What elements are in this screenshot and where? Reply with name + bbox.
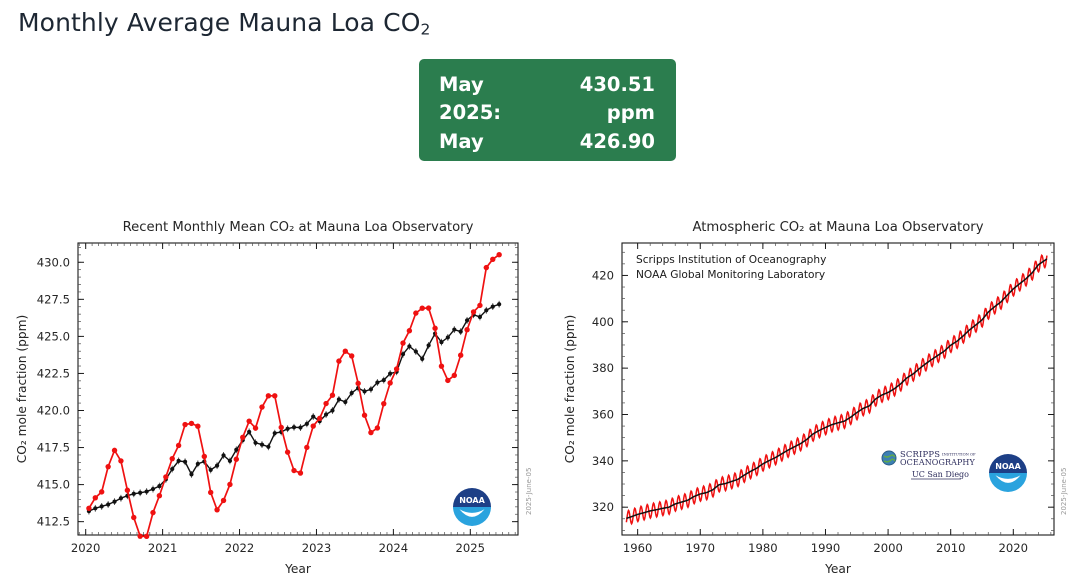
y-tick-label: 427.5 — [37, 292, 70, 306]
x-tick-label: 2024 — [379, 541, 409, 555]
summary-value-previous: 426.90 ppm — [543, 128, 655, 185]
x-tick-label: 1970 — [686, 541, 716, 555]
date-stamp: 2025-June-05 — [525, 468, 533, 515]
scripps-logo: SCRIPPSINSTITUTION OFOCEANOGRAPHYUC San … — [882, 449, 976, 479]
y-tick-label: 415.0 — [37, 478, 70, 492]
y-tick-label: 360 — [592, 407, 614, 421]
svg-text:UC San Diego: UC San Diego — [912, 470, 969, 479]
noaa-logo: NOAA — [453, 488, 491, 526]
y-tick-label: 422.5 — [37, 366, 70, 380]
plot-frame — [622, 243, 1054, 535]
y-tick-label: 417.5 — [37, 441, 70, 455]
recent-co2-chart-svg: Recent Monthly Mean CO₂ at Mauna Loa Obs… — [10, 215, 538, 575]
y-tick-label: 430.0 — [37, 255, 70, 269]
summary-row: May 2024: 426.90 ppm — [439, 128, 656, 185]
date-stamp: 2025-June-05 — [1060, 468, 1068, 515]
plot-frame — [78, 243, 518, 535]
svg-text:OCEANOGRAPHY: OCEANOGRAPHY — [900, 458, 976, 467]
last-updated-text: Last updated: Jun 05, 2025 — [439, 187, 656, 199]
page-title: Monthly Average Mauna Loa CO2 — [18, 8, 430, 38]
chart-title: Atmospheric CO₂ at Mauna Loa Observatory — [692, 220, 983, 235]
monthly-mean-series — [626, 255, 1047, 523]
page-title-text: Monthly Average Mauna Loa CO — [18, 8, 420, 37]
co2-summary-box: May 2025: 430.51 ppm May 2024: 426.90 pp… — [419, 59, 676, 161]
x-tick-label: 2020 — [999, 541, 1029, 555]
noaa-logo: NOAA — [989, 454, 1027, 492]
monthly-mean-series — [86, 252, 502, 539]
chart-title: Recent Monthly Mean CO₂ at Mauna Loa Obs… — [123, 220, 474, 235]
svg-text:CO₂ mole fraction (ppm): CO₂ mole fraction (ppm) — [15, 315, 29, 464]
annual-trend-series — [626, 259, 1047, 518]
page-title-subscript: 2 — [420, 20, 430, 38]
annotation-line: Scripps Institution of Oceanography — [636, 254, 826, 266]
x-tick-label: 2021 — [148, 541, 178, 555]
full-record-co2-chart: Atmospheric CO₂ at Mauna Loa Observatory… — [560, 215, 1072, 575]
summary-value-current: 430.51 ppm — [543, 71, 655, 128]
y-tick-label: 412.5 — [37, 515, 70, 529]
recent-co2-chart: Recent Monthly Mean CO₂ at Mauna Loa Obs… — [10, 215, 538, 575]
svg-text:NOAA: NOAA — [459, 496, 485, 505]
svg-text:NOAA: NOAA — [995, 462, 1021, 471]
x-tick-label: 2020 — [71, 541, 101, 555]
y-axis-label: CO₂ mole fraction (ppm) — [563, 315, 577, 464]
x-tick-label: 2025 — [456, 541, 486, 555]
y-tick-label: 420 — [592, 268, 614, 282]
x-tick-label: 2022 — [225, 541, 255, 555]
y-tick-label: 420.0 — [37, 403, 70, 417]
x-tick-label: 2010 — [936, 541, 966, 555]
x-tick-label: 1960 — [623, 541, 653, 555]
x-tick-label: 1980 — [748, 541, 778, 555]
y-tick-label: 425.0 — [37, 329, 70, 343]
trend-series — [87, 301, 501, 515]
summary-label-previous: May 2024: — [439, 128, 543, 185]
svg-text:2025-June-05: 2025-June-05 — [525, 468, 533, 515]
annotation-line: NOAA Global Monitoring Laboratory — [636, 269, 825, 281]
svg-text:2025-June-05: 2025-June-05 — [1060, 468, 1068, 515]
svg-text:INSTITUTION OF: INSTITUTION OF — [942, 453, 976, 457]
full-record-co2-chart-svg: Atmospheric CO₂ at Mauna Loa Observatory… — [560, 215, 1072, 575]
y-tick-label: 340 — [592, 454, 614, 468]
x-axis-label: Year — [284, 562, 312, 575]
x-tick-label: 2000 — [873, 541, 903, 555]
x-tick-label: 2023 — [302, 541, 332, 555]
y-tick-label: 380 — [592, 361, 614, 375]
svg-text:CO₂ mole fraction (ppm): CO₂ mole fraction (ppm) — [563, 315, 577, 464]
y-tick-label: 400 — [592, 315, 614, 329]
summary-row: May 2025: 430.51 ppm — [439, 71, 656, 128]
x-tick-label: 1990 — [811, 541, 841, 555]
y-axis-label: CO₂ mole fraction (ppm) — [15, 315, 29, 464]
x-axis-label: Year — [824, 562, 852, 575]
chart-annotations: Scripps Institution of OceanographyNOAA … — [636, 254, 826, 281]
y-tick-label: 320 — [592, 500, 614, 514]
summary-label-current: May 2025: — [439, 71, 543, 128]
